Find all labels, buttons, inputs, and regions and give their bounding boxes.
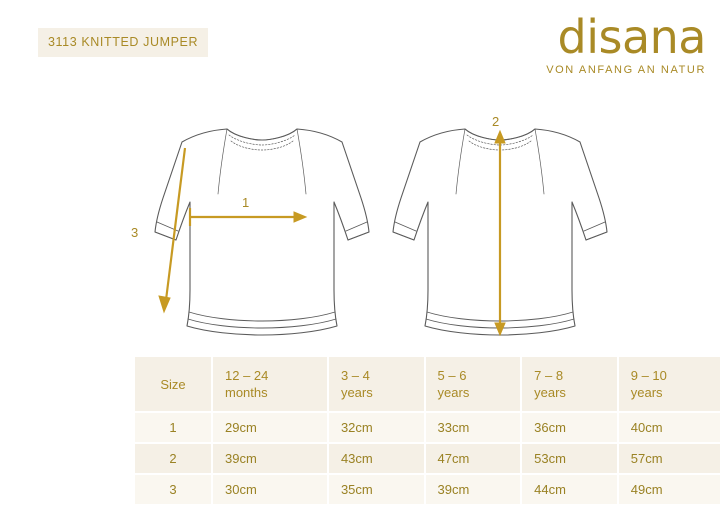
knitted-jumper-front [155, 129, 369, 335]
table-row: 2 39cm 43cm 47cm 53cm 57cm [134, 443, 720, 474]
brand-logo: disana VON ANFANG AN NATUR [546, 14, 706, 76]
table-header-col4-line1: 7 – 8 [534, 367, 605, 384]
table-header-7-8-years: 7 – 8 years [521, 357, 618, 412]
table-header-col5-line1: 9 – 10 [631, 367, 708, 384]
table-header-col1-line2: months [225, 384, 315, 401]
table-header-col5-line2: years [631, 384, 708, 401]
row-2-col-5: 57cm [618, 443, 720, 474]
table-header-5-6-years: 5 – 6 years [425, 357, 522, 412]
row-1-col-1: 29cm [212, 412, 328, 443]
row-3-col-2: 35cm [328, 474, 425, 505]
row-3-col-1: 30cm [212, 474, 328, 505]
row-1-col-3: 33cm [425, 412, 522, 443]
row-3-col-4: 44cm [521, 474, 618, 505]
table-header-col1-line1: 12 – 24 [225, 367, 315, 384]
size-table: Size 12 – 24 months 3 – 4 years 5 – 6 ye… [133, 357, 720, 506]
brand-tagline: VON ANFANG AN NATUR [546, 64, 706, 76]
table-header-3-4-years: 3 – 4 years [328, 357, 425, 412]
table-header-col3-line1: 5 – 6 [438, 367, 509, 384]
table-header-row: Size 12 – 24 months 3 – 4 years 5 – 6 ye… [134, 357, 720, 412]
row-1-col-4: 36cm [521, 412, 618, 443]
page-title: 3113 KNITTED JUMPER [48, 35, 198, 49]
table-header-col3-line2: years [438, 384, 509, 401]
size-chart-page: 3113 KNITTED JUMPER disana VON ANFANG AN… [0, 0, 720, 498]
table-row: 1 29cm 32cm 33cm 36cm 40cm [134, 412, 720, 443]
measure-label-3: 3 [131, 225, 138, 240]
table-header-12-24-months: 12 – 24 months [212, 357, 328, 412]
table-header-size: Size [134, 357, 212, 412]
table-header-col2-line2: years [341, 384, 412, 401]
table-header-size-line1: Size [147, 376, 199, 393]
row-2-col-4: 53cm [521, 443, 618, 474]
table-row: 3 30cm 35cm 39cm 44cm 49cm [134, 474, 720, 505]
row-3-col-3: 39cm [425, 474, 522, 505]
garment-illustrations: 1 2 3 [0, 90, 720, 355]
measure-label-2: 2 [492, 114, 499, 129]
brand-name: disana [546, 14, 706, 60]
illustration-svg: 1 2 3 [0, 90, 720, 355]
row-2-col-3: 47cm [425, 443, 522, 474]
row-measure-label: 2 [134, 443, 212, 474]
row-measure-label: 1 [134, 412, 212, 443]
row-2-col-1: 39cm [212, 443, 328, 474]
product-title-bar: 3113 KNITTED JUMPER [38, 28, 208, 57]
table-header-col4-line2: years [534, 384, 605, 401]
table-header-col2-line1: 3 – 4 [341, 367, 412, 384]
row-3-col-5: 49cm [618, 474, 720, 505]
row-measure-label: 3 [134, 474, 212, 505]
row-2-col-2: 43cm [328, 443, 425, 474]
row-1-col-2: 32cm [328, 412, 425, 443]
table-header-9-10-years: 9 – 10 years [618, 357, 720, 412]
row-1-col-5: 40cm [618, 412, 720, 443]
measure-label-1: 1 [242, 195, 249, 210]
